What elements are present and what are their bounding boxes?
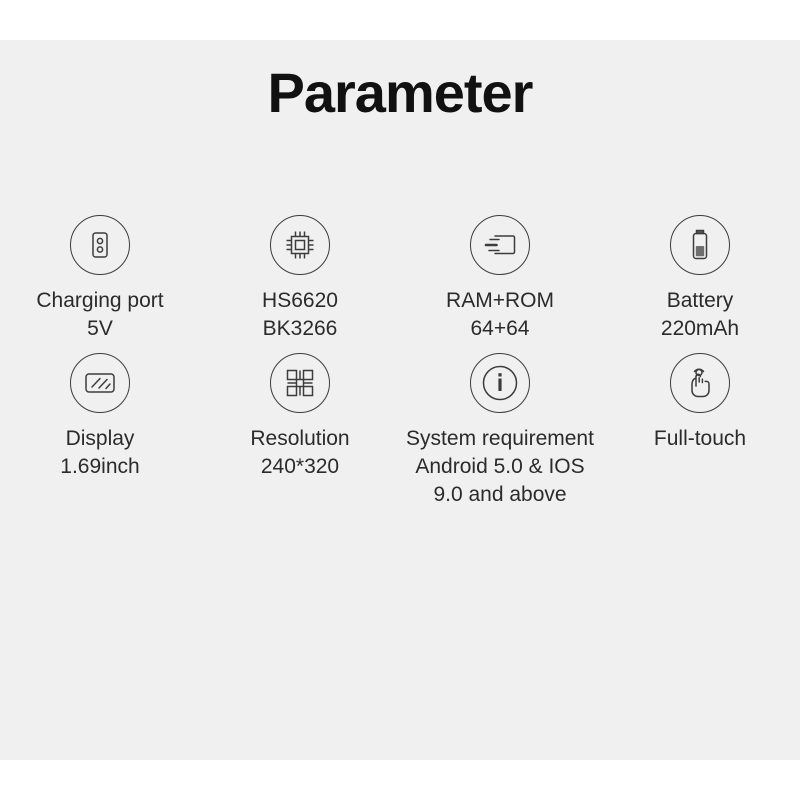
page-title: Parameter	[0, 62, 800, 124]
spec-item-label: Resolution 240*320	[250, 425, 349, 481]
spec-item-battery: Battery 220mAh	[600, 215, 800, 343]
pixel-grid-icon	[270, 353, 330, 413]
spec-item-charging-port: Charging port 5V	[0, 215, 200, 343]
spec-item-label: Display 1.69inch	[60, 425, 139, 481]
spec-row: Display 1.69inch Resolution 240*320	[0, 353, 800, 509]
spec-item-system-requirement: System requirement Android 5.0 & IOS 9.0…	[400, 353, 600, 509]
spec-item-label: Charging port 5V	[36, 287, 163, 343]
touch-hand-icon	[670, 353, 730, 413]
display-icon	[70, 353, 130, 413]
battery-icon	[670, 215, 730, 275]
spec-item-label: Battery 220mAh	[661, 287, 739, 343]
spec-item-chipset: HS6620 BK3266	[200, 215, 400, 343]
chip-icon	[270, 215, 330, 275]
spec-item-full-touch: Full-touch	[600, 353, 800, 509]
parameter-page: Parameter Charging port 5V	[0, 0, 800, 800]
spec-item-label: HS6620 BK3266	[262, 287, 338, 343]
spec-row: Charging port 5V	[0, 215, 800, 343]
spec-item-resolution: Resolution 240*320	[200, 353, 400, 509]
spec-grid: Charging port 5V	[0, 215, 800, 509]
spec-item-label: System requirement Android 5.0 & IOS 9.0…	[406, 425, 594, 509]
spec-item-memory: RAM+ROM 64+64	[400, 215, 600, 343]
charging-port-icon	[70, 215, 130, 275]
memory-icon	[470, 215, 530, 275]
spec-item-label: Full-touch	[654, 425, 746, 453]
spec-item-label: RAM+ROM 64+64	[446, 287, 554, 343]
info-icon	[470, 353, 530, 413]
spec-item-display: Display 1.69inch	[0, 353, 200, 509]
